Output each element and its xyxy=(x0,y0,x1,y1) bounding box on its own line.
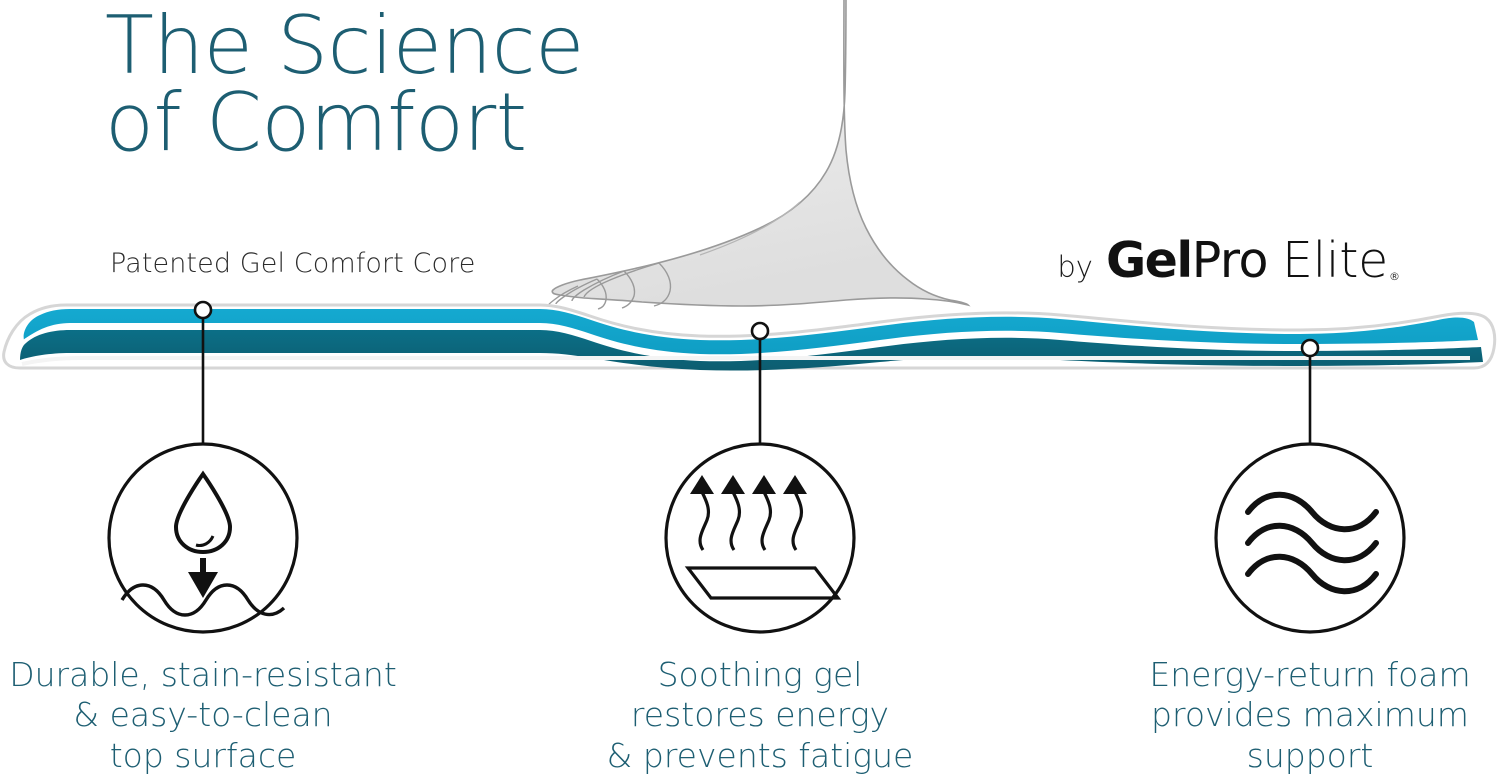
feature-icon-1 xyxy=(666,444,854,632)
infographic-canvas: The Science of Comfort Patented Gel Comf… xyxy=(0,0,1500,778)
foot-illustration xyxy=(548,0,968,309)
feature-icon-0 xyxy=(109,444,297,632)
callout-dot-0 xyxy=(195,302,211,318)
comfort-mat xyxy=(4,305,1495,371)
foot-shape xyxy=(552,0,968,306)
icon-circle-1 xyxy=(666,444,854,632)
feature-caption-0: Durable, stain-resistant & easy-to-clean… xyxy=(3,655,403,776)
feature-icon-2 xyxy=(1216,444,1404,632)
feature-caption-1: Soothing gel restores energy & prevents … xyxy=(560,655,960,776)
feature-caption-2: Energy-return foam provides maximum supp… xyxy=(1110,655,1500,776)
callout-dot-1 xyxy=(752,323,768,339)
callout-dot-2 xyxy=(1302,340,1318,356)
